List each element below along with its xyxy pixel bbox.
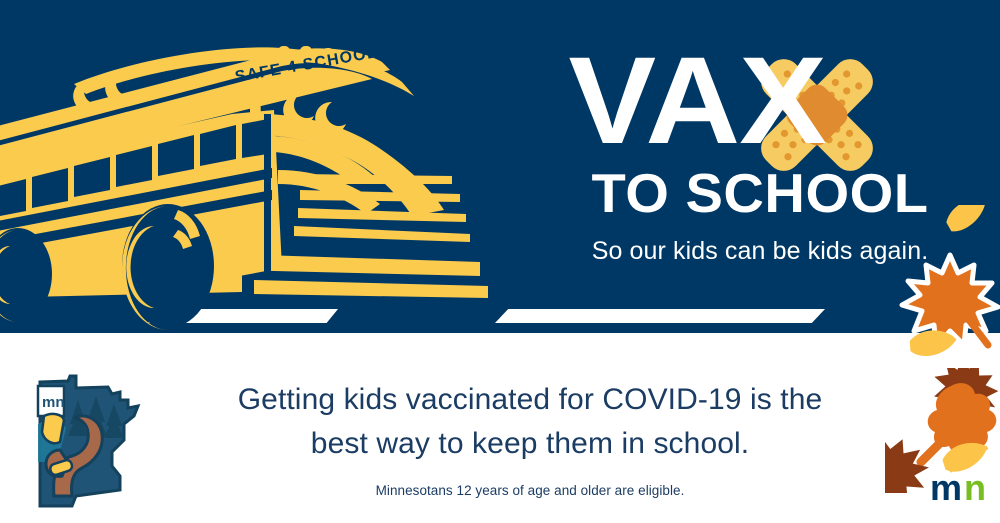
mn-badge-label: mn	[42, 394, 65, 411]
school-bus-icon: SAFE 4 SCHOOL	[0, 18, 542, 330]
road-dash-marking	[495, 309, 825, 323]
mn-state-logo: m n	[930, 470, 994, 506]
body-copy: Getting kids vaccinated for COVID-19 is …	[200, 378, 860, 465]
minnesota-flexed-arm-icon: mn	[16, 366, 166, 516]
eligibility-note: Minnesotans 12 years of age and older ar…	[200, 483, 860, 498]
mn-logo-m: m	[930, 470, 962, 506]
page-title: VAX	[560, 44, 984, 158]
body-copy-line-1: Getting kids vaccinated for COVID-19 is …	[200, 378, 860, 422]
body-copy-line-2: best way to keep them in school.	[200, 422, 860, 466]
autumn-leaves-icon	[890, 205, 1000, 380]
vax-to-school-poster: SAFE 4 SCHOOL	[0, 0, 1000, 523]
mn-logo-n: n	[964, 470, 986, 506]
